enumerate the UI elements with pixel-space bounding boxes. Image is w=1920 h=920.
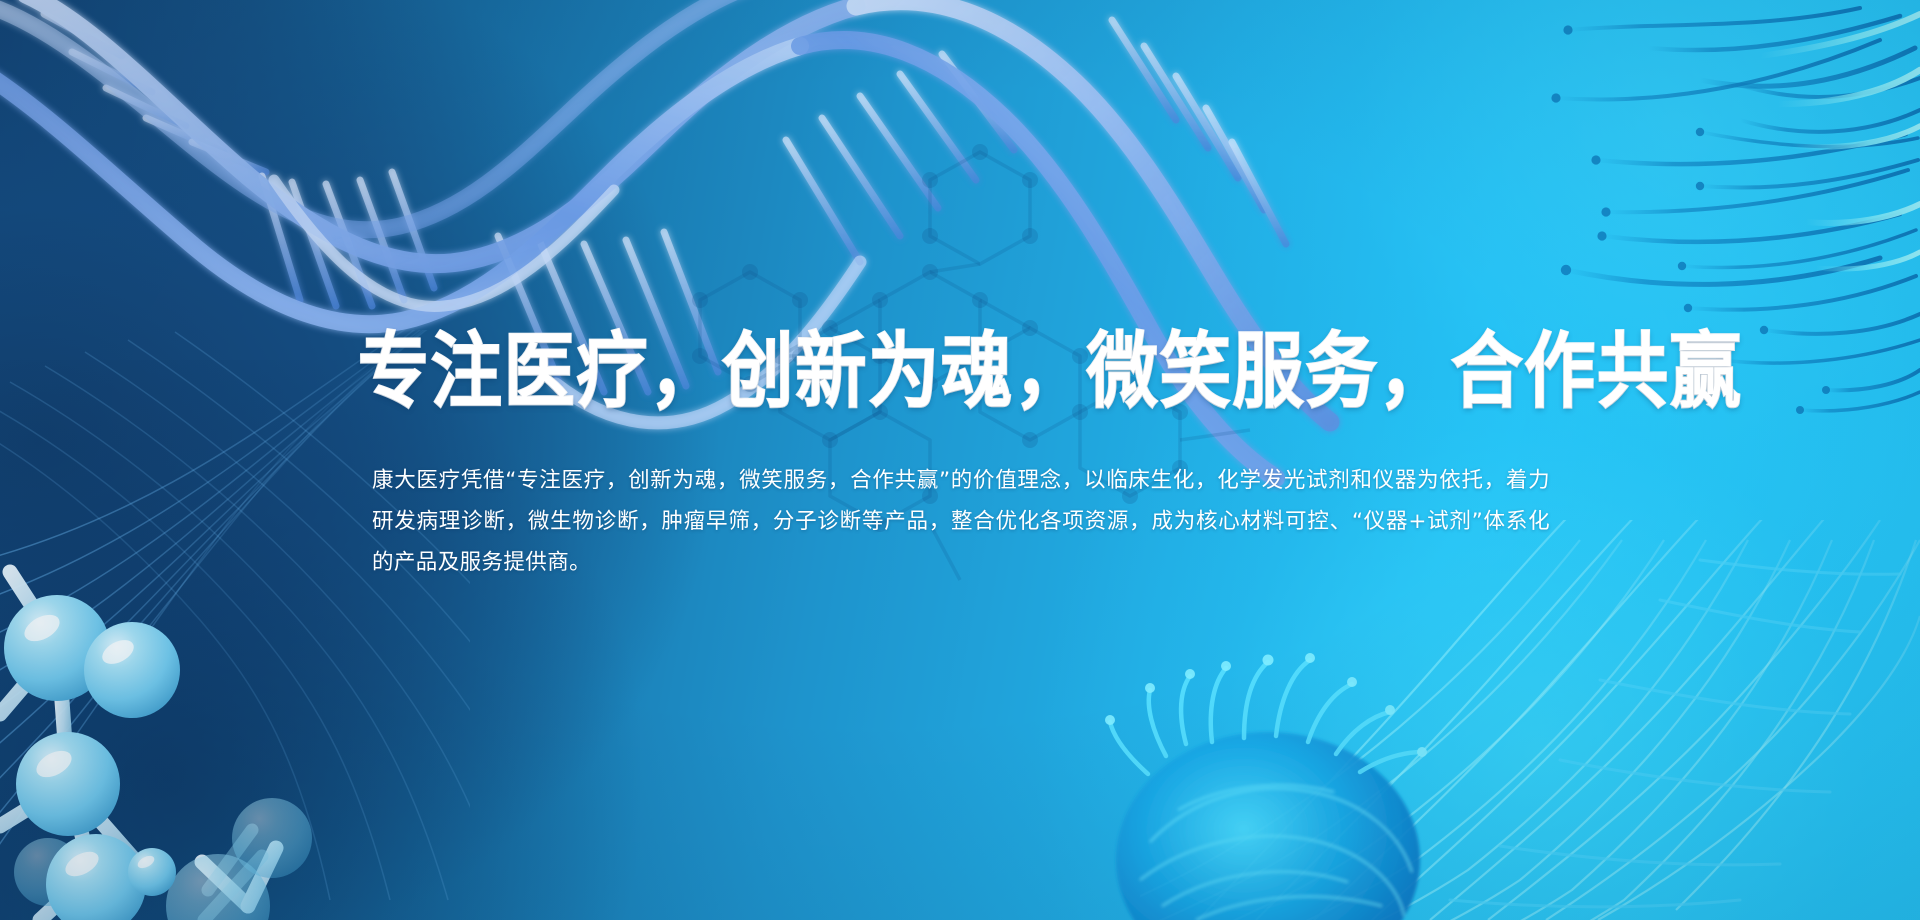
banner-content: 专注医疗，创新为魂，微笑服务，合作共赢 康大医疗凭借“专注医疗，创新为魂，微笑服… [352,330,1562,583]
banner-stage: 专注医疗，创新为魂，微笑服务，合作共赢 康大医疗凭借“专注医疗，创新为魂，微笑服… [0,0,1920,920]
page-title: 专注医疗，创新为魂，微笑服务，合作共赢 [358,330,1544,412]
banner-description: 康大医疗凭借“专注医疗，创新为魂，微笑服务，合作共赢”的价值理念，以临床生化，化… [372,460,1550,583]
